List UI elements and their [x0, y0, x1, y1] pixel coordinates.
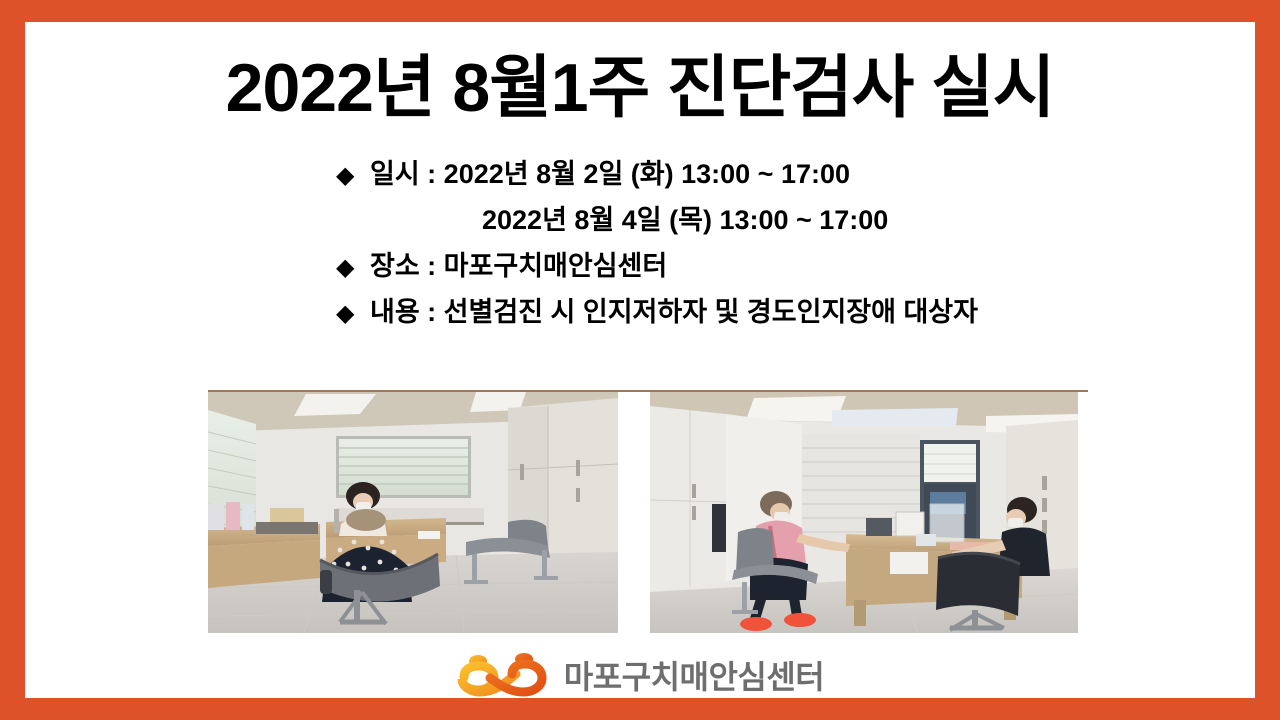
detail-line-label: 내용 : 선별검진 시 인지저하자 및 경도인지장애 대상자 — [370, 290, 978, 334]
detail-line-label: 일시 : 2022년 8월 2일 (화) 13:00 ~ 17:00 — [370, 152, 850, 196]
detail-line-datetime-2: ◆ 2022년 8월 4일 (목) 13:00 ~ 17:00 — [336, 198, 1236, 244]
photo-consultation-room-left — [208, 392, 618, 633]
diamond-bullet-icon: ◆ — [336, 246, 370, 290]
slide-canvas: 2022년 8월1주 진단검사 실시 ◆ 일시 : 2022년 8월 2일 (화… — [25, 22, 1255, 698]
detail-line-datetime-1: ◆ 일시 : 2022년 8월 2일 (화) 13:00 ~ 17:00 — [336, 152, 1236, 198]
page-title: 2022년 8월1주 진단검사 실시 — [25, 54, 1255, 122]
detail-line-label: 2022년 8월 4일 (목) 13:00 ~ 17:00 — [370, 198, 888, 242]
logo-text: 마포구치매안심센터 — [564, 652, 824, 698]
detail-line-label: 장소 : 마포구치매안심센터 — [370, 244, 667, 288]
footer-logo: 마포구치매안심센터 — [25, 652, 1255, 698]
photo-left-illustration — [208, 392, 618, 633]
slide-root: 2022년 8월1주 진단검사 실시 ◆ 일시 : 2022년 8월 2일 (화… — [0, 0, 1280, 720]
detail-line-content: ◆ 내용 : 선별검진 시 인지저하자 및 경도인지장애 대상자 — [336, 290, 1236, 336]
diamond-bullet-icon: ◆ — [336, 154, 370, 198]
photo-consultation-room-right — [650, 392, 1078, 633]
logo-mark-svg — [456, 652, 550, 698]
diamond-bullet-icon: ◆ — [336, 292, 370, 336]
photo-right-illustration — [650, 392, 1078, 633]
mapo-dementia-center-logo-mark-icon — [456, 652, 550, 698]
detail-line-location: ◆ 장소 : 마포구치매안심센터 — [336, 244, 1236, 290]
detail-list: ◆ 일시 : 2022년 8월 2일 (화) 13:00 ~ 17:00 ◆ 2… — [336, 152, 1236, 336]
